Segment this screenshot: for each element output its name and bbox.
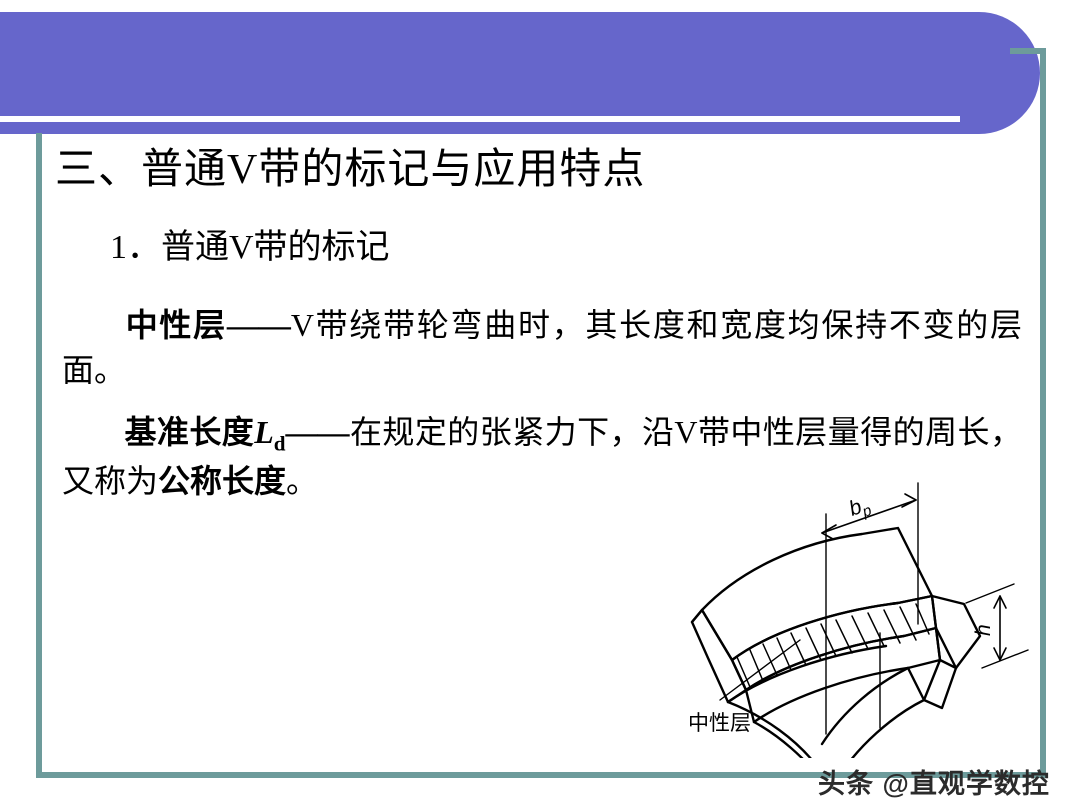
variable-symbol: L <box>254 414 274 450</box>
variable-Ld: Ld <box>254 414 285 450</box>
definition-body-2-tail: 。 <box>286 463 318 499</box>
term-datum-length: 基准长度 <box>124 414 254 450</box>
slide-subtitle: 1．普通V带的标记 <box>110 228 390 269</box>
slide-title: 三、普通V带的标记与应用特点 <box>55 145 645 195</box>
neutral-layer-callout-label: 中性层 <box>688 712 751 735</box>
term-neutral-layer: 中性层 <box>124 307 227 343</box>
emphasis-nominal-length: 公称长度 <box>158 463 286 499</box>
watermark-text: 头条 @直观学数控 <box>818 762 1050 801</box>
em-dash-2: —— <box>286 414 350 450</box>
frame-border-right <box>1040 48 1046 778</box>
variable-subscript: d <box>274 431 286 455</box>
slide-canvas: 三、普通V带的标记与应用特点 1．普通V带的标记 中性层——V带绕带轮弯曲时，其… <box>0 0 1080 810</box>
em-dash-1: —— <box>227 307 291 343</box>
frame-border-left <box>36 133 42 778</box>
definition-paragraph-neutral-layer: 中性层——V带绕带轮弯曲时，其长度和宽度均保持不变的层面。 <box>62 303 1022 394</box>
v-belt-diagram: bp h 中性层 <box>680 478 1040 758</box>
dimension-label-h: h <box>972 624 995 636</box>
header-decoration-split <box>0 116 960 122</box>
